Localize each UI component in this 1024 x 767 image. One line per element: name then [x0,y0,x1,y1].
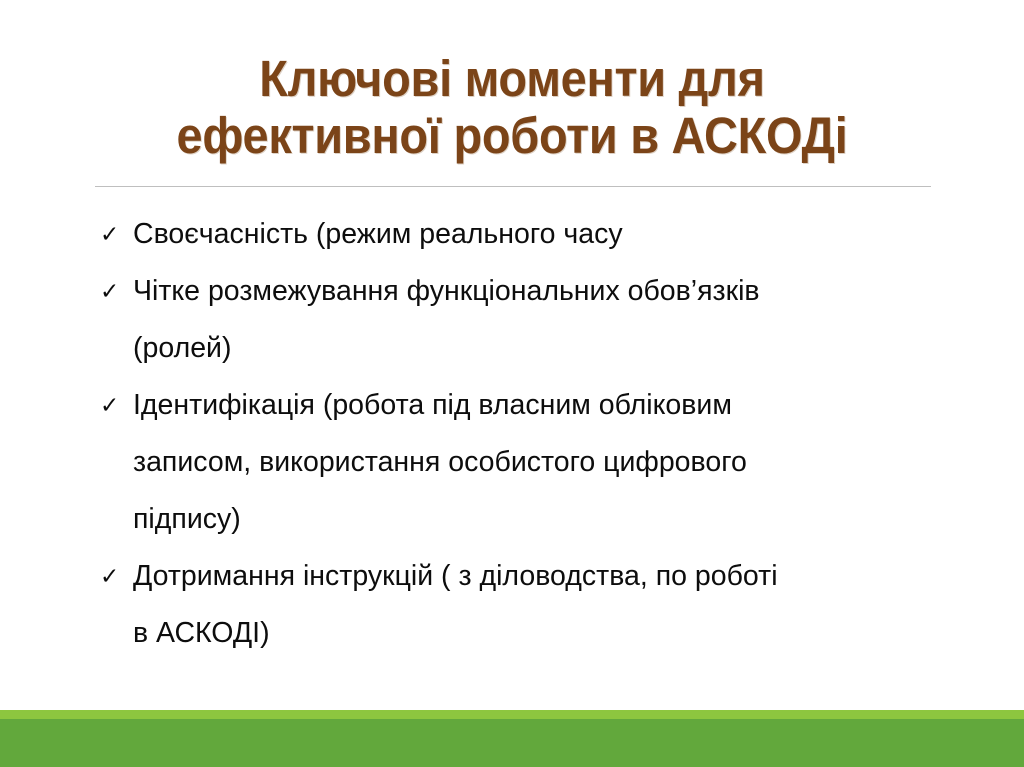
list-item-label: Своєчасність (режим реального часу [133,212,623,256]
list-item-continuation: записом, використання особистого цифрово… [100,440,960,497]
page-title: Ключові моменти для ефективної роботи в … [60,50,964,164]
list-item-continuation: в АСКОДІ) [100,611,960,668]
footer-accent-bar-dark [0,719,1024,767]
list-item: ✓ Своєчасність (режим реального часу [100,212,960,269]
list-item-label: Дотримання інструкцій ( з діловодства, п… [133,554,778,598]
list-item: ✓ Ідентифікація (робота під власним облі… [100,383,960,440]
list-item-label: записом, використання особистого цифрово… [133,440,747,484]
list-item-continuation: підпису) [100,497,960,554]
title-divider [95,186,931,187]
footer-accent-bar-light [0,710,1024,719]
check-icon: ✓ [100,383,128,427]
title-line-1: Ключові моменти для [96,50,928,107]
list-item: ✓ Дотримання інструкцій ( з діловодства,… [100,554,960,611]
list-item-label: (ролей) [133,326,231,370]
bullet-list: ✓ Своєчасність (режим реального часу ✓ Ч… [100,212,960,668]
list-item-label: в АСКОДІ) [133,611,270,655]
check-icon: ✓ [100,212,128,256]
list-item-label: Чітке розмежування функціональних обов’я… [133,269,760,313]
list-item-continuation: (ролей) [100,326,960,383]
list-item-label: підпису) [133,497,241,541]
check-icon: ✓ [100,554,128,598]
check-icon: ✓ [100,269,128,313]
list-item: ✓ Чітке розмежування функціональних обов… [100,269,960,326]
slide-canvas: Ключові моменти для ефективної роботи в … [0,0,1024,767]
title-line-2: ефективної роботи в АСКОДі [96,107,928,164]
list-item-label: Ідентифікація (робота під власним обліко… [133,383,732,427]
